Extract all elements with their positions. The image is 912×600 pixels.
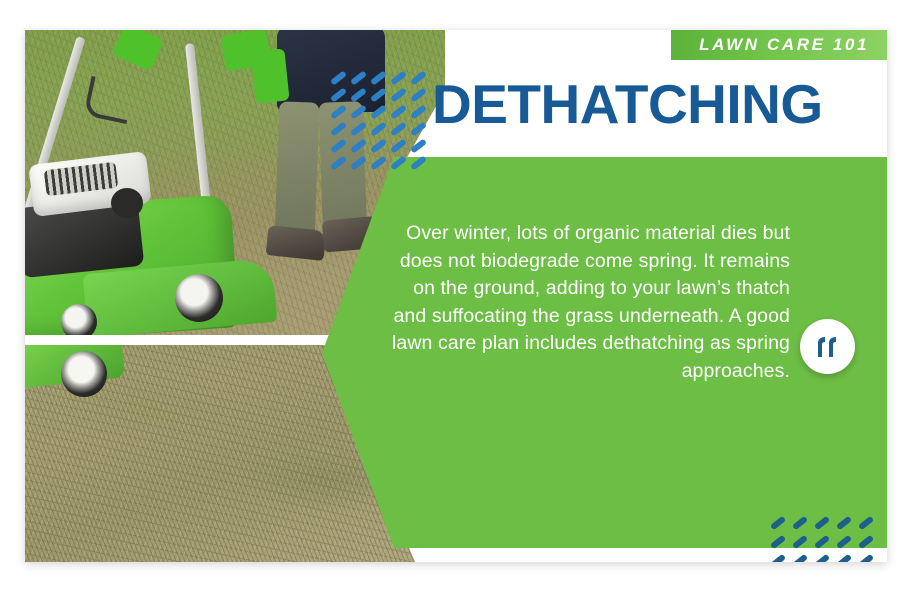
quote-badge [800, 319, 855, 374]
dash-mark [858, 554, 874, 562]
person-shoe-left [266, 225, 327, 261]
dash-pattern-top-left [330, 75, 430, 179]
dash-mark [330, 87, 347, 102]
dash-mark [410, 155, 427, 170]
dash-mark [410, 138, 427, 153]
panel-body-text: Over winter, lots of organic material di… [390, 220, 790, 385]
person-leg-left [275, 101, 320, 240]
dash-mark [792, 535, 808, 550]
quotation-mark-icon [816, 336, 840, 358]
mower-wheel-fragment [61, 351, 107, 397]
page-title: DETHATCHING [432, 77, 823, 132]
dash-mark [390, 104, 407, 119]
dash-mark [410, 104, 427, 119]
dash-mark [390, 155, 407, 170]
dash-mark [390, 121, 407, 136]
dash-mark [370, 155, 387, 170]
mower-grip-lower [250, 48, 289, 103]
dash-mark [330, 121, 347, 136]
dash-mark [370, 104, 387, 119]
dash-mark [814, 535, 830, 550]
dash-mark [370, 87, 387, 102]
dash-mark [350, 138, 367, 153]
dash-mark [858, 535, 874, 550]
dash-mark [390, 138, 407, 153]
dash-mark [350, 104, 367, 119]
dash-mark [770, 554, 786, 562]
dash-mark [836, 554, 852, 562]
dash-mark [836, 535, 852, 550]
dash-mark [370, 138, 387, 153]
dash-mark [410, 121, 427, 136]
dash-mark [814, 554, 830, 562]
dash-mark [770, 535, 786, 550]
banner-label: LAWN CARE 101 [699, 35, 869, 55]
dash-mark [330, 104, 347, 119]
dash-mark [350, 121, 367, 136]
dash-mark [350, 87, 367, 102]
lawn-care-banner: LAWN CARE 101 [671, 30, 887, 60]
dash-mark [390, 87, 407, 102]
mower-engine-cap [111, 188, 143, 218]
mower-wheel-front [175, 274, 223, 322]
dash-mark [370, 121, 387, 136]
infographic-card: Over winter, lots of organic material di… [25, 30, 887, 562]
dash-mark [330, 138, 347, 153]
dash-mark [350, 155, 367, 170]
dash-pattern-bottom-right [770, 520, 880, 562]
dash-mark [330, 155, 347, 170]
mower-wheel-rear [61, 304, 97, 335]
dash-mark [792, 554, 808, 562]
dash-mark [410, 87, 427, 102]
